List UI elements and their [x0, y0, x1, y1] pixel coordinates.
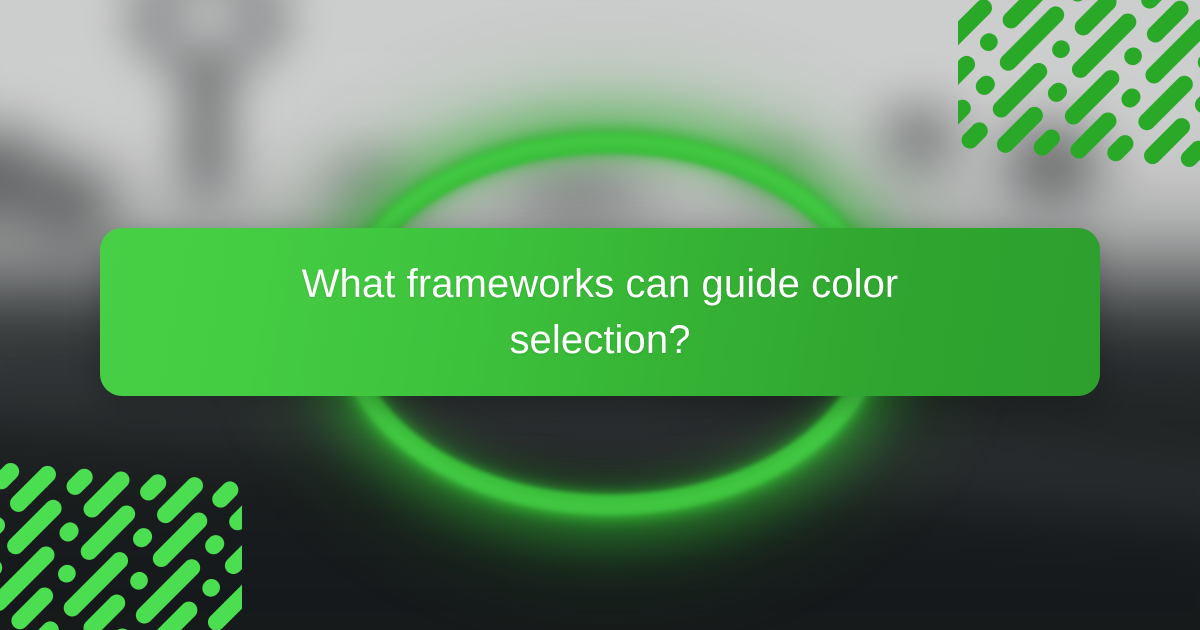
- question-title: What frameworks can guide color selectio…: [270, 256, 930, 368]
- diagonal-dash-pattern-icon: [958, 0, 1200, 242]
- corner-decoration-top-right: [958, 0, 1200, 242]
- corner-decoration-bottom-left: [0, 388, 242, 630]
- diagonal-dash-pattern-icon: [0, 388, 242, 630]
- social-card-canvas: What frameworks can guide color selectio…: [0, 0, 1200, 630]
- question-card: What frameworks can guide color selectio…: [100, 228, 1100, 396]
